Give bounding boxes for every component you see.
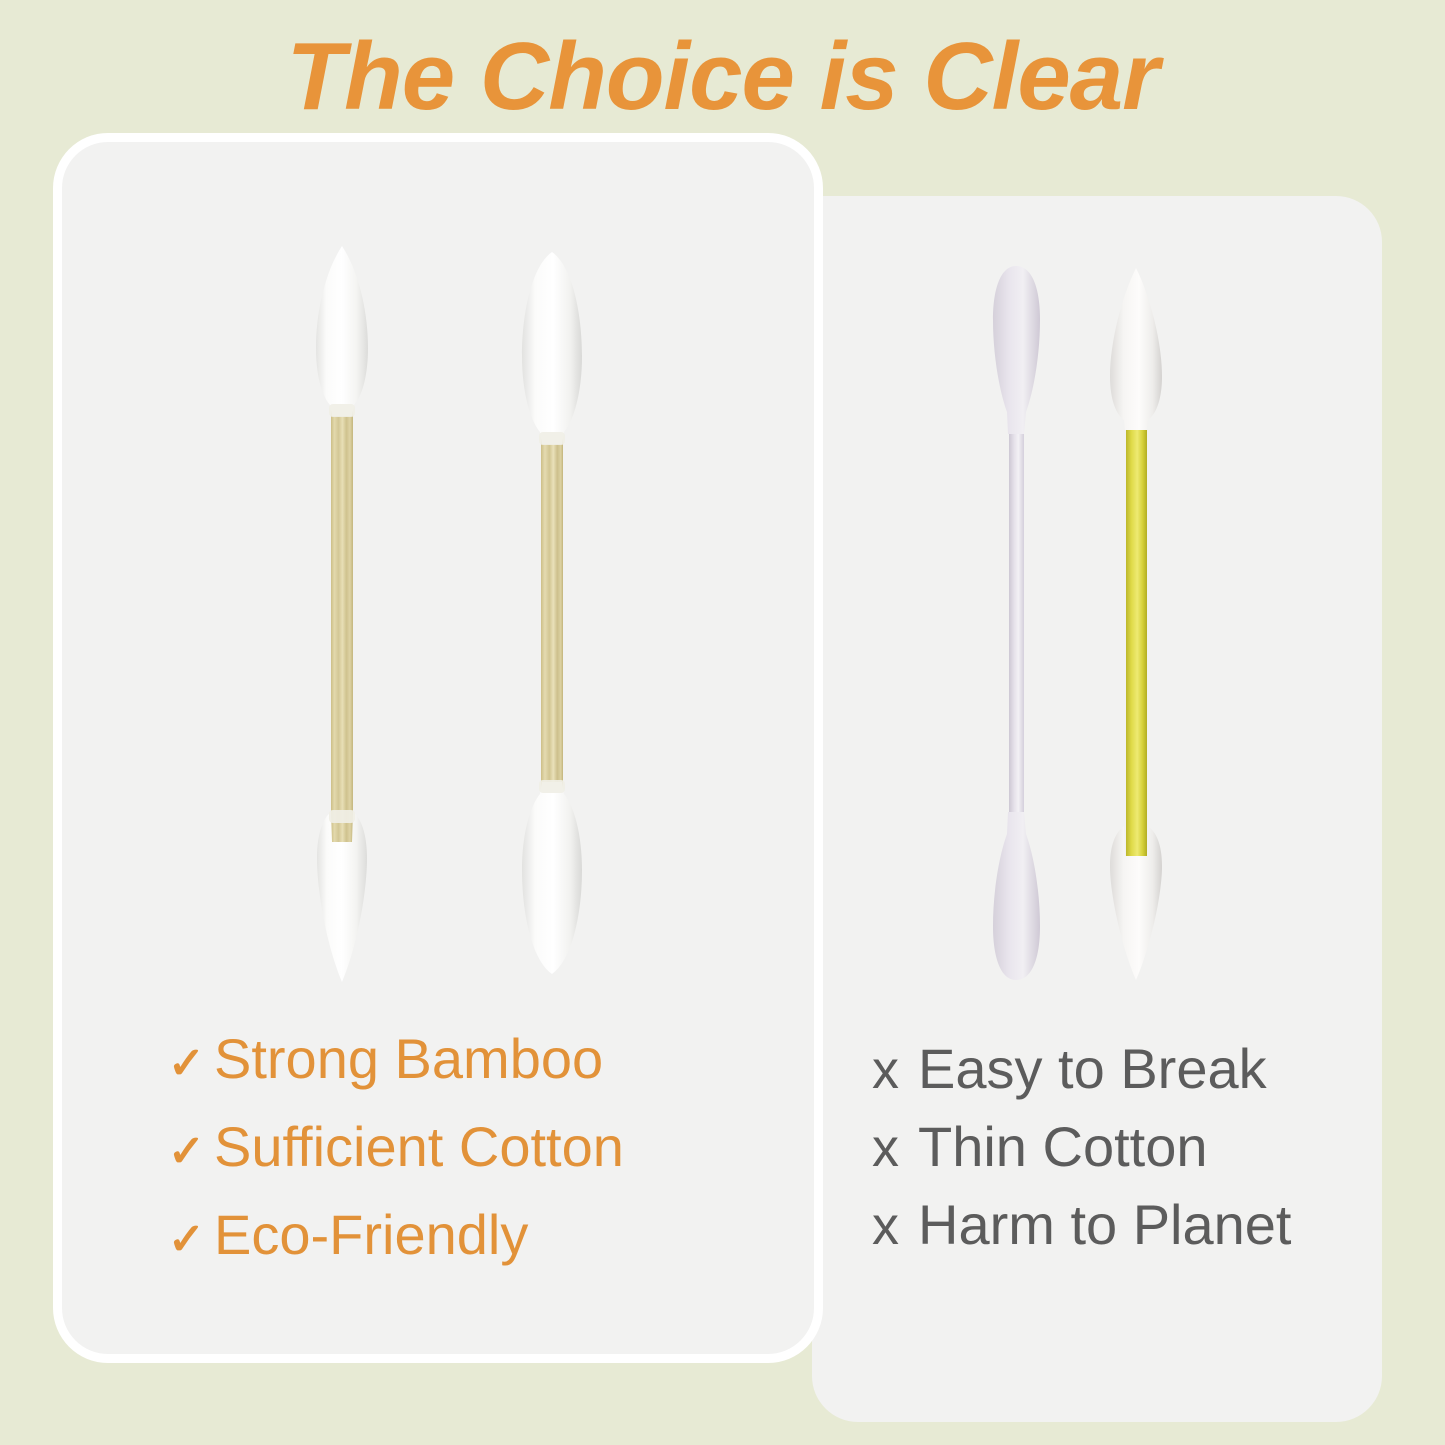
feature-label: Harm to Planet bbox=[918, 1194, 1292, 1256]
check-icon: ✓ bbox=[168, 1122, 214, 1182]
feature-list-others: x Easy to Break x Thin Cotton x Harm to … bbox=[872, 1038, 1292, 1272]
check-icon: ✓ bbox=[168, 1034, 214, 1094]
feature-label: Eco-Friendly bbox=[214, 1204, 528, 1266]
cross-icon: x bbox=[872, 1118, 918, 1178]
feature-label: Sufficient Cotton bbox=[214, 1116, 624, 1178]
cross-icon: x bbox=[872, 1196, 918, 1256]
feature-label: Strong Bamboo bbox=[214, 1028, 603, 1090]
cross-icon: x bbox=[872, 1040, 918, 1100]
list-item: x Thin Cotton bbox=[872, 1116, 1292, 1178]
feature-list-ours: ✓ Strong Bamboo ✓ Sufficient Cotton ✓ Ec… bbox=[168, 1028, 624, 1292]
list-item: ✓ Sufficient Cotton bbox=[168, 1116, 624, 1182]
product-image-bamboo-swab-right bbox=[492, 248, 612, 978]
product-image-bamboo-swab-left bbox=[282, 244, 402, 984]
feature-label: Thin Cotton bbox=[918, 1116, 1208, 1178]
product-image-plastic-swab-yellow bbox=[1094, 266, 1180, 984]
feature-label: Easy to Break bbox=[918, 1038, 1267, 1100]
comparison-infographic: The Choice is Clear OURS OTHERS bbox=[0, 0, 1445, 1445]
list-item: x Easy to Break bbox=[872, 1038, 1292, 1100]
list-item: x Harm to Planet bbox=[872, 1194, 1292, 1256]
list-item: ✓ Eco-Friendly bbox=[168, 1204, 624, 1270]
page-title: The Choice is Clear bbox=[0, 22, 1445, 132]
list-item: ✓ Strong Bamboo bbox=[168, 1028, 624, 1094]
check-icon: ✓ bbox=[168, 1210, 214, 1270]
product-image-plastic-swab-lavender bbox=[978, 262, 1058, 984]
